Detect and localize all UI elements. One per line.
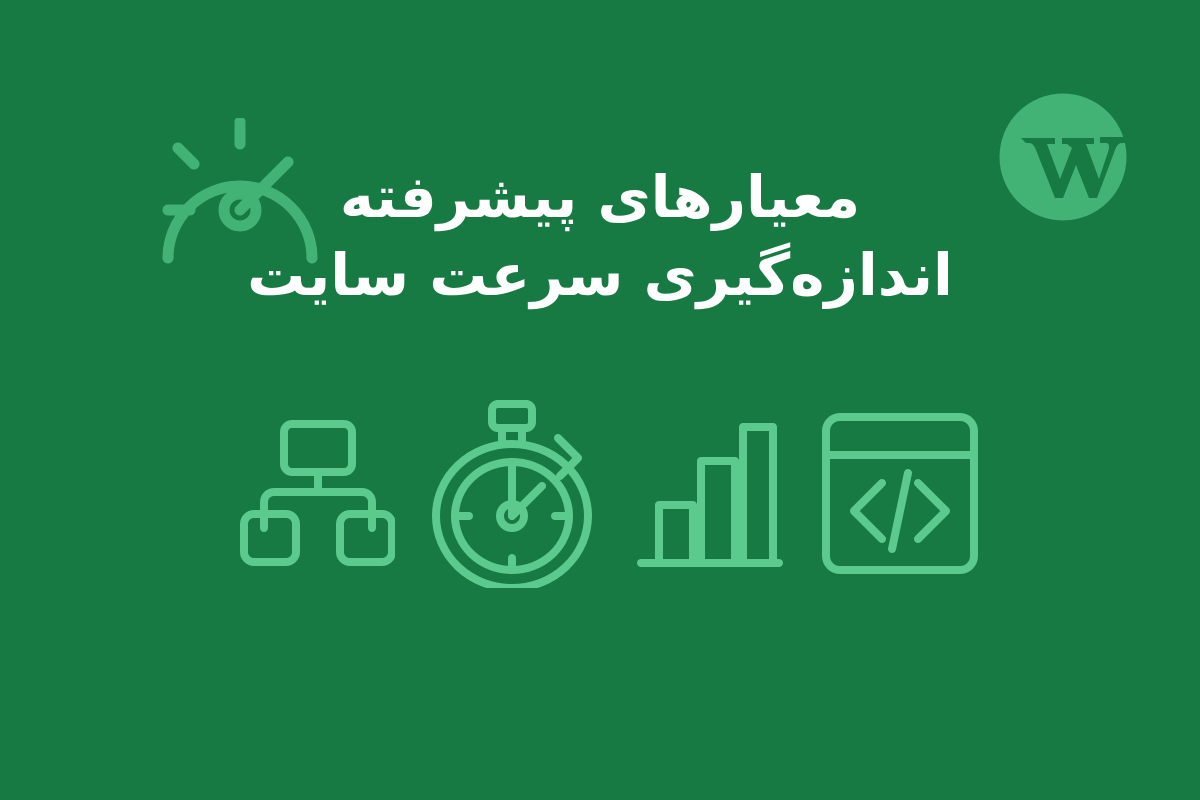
code-window-icon: [820, 411, 980, 576]
title-line-1: معیارهای پیشرفته: [0, 158, 1200, 236]
feature-icon-row: [240, 398, 980, 588]
title-line-2: اندازه‌گیری سرعت سایت: [0, 236, 1200, 314]
poster-canvas: معیارهای پیشرفته اندازه‌گیری سرعت سایت: [0, 0, 1200, 800]
sitemap-icon: [240, 418, 395, 568]
stopwatch-icon: [430, 398, 600, 588]
page-title: معیارهای پیشرفته اندازه‌گیری سرعت سایت: [0, 158, 1200, 314]
bar-chart-icon: [635, 413, 785, 573]
